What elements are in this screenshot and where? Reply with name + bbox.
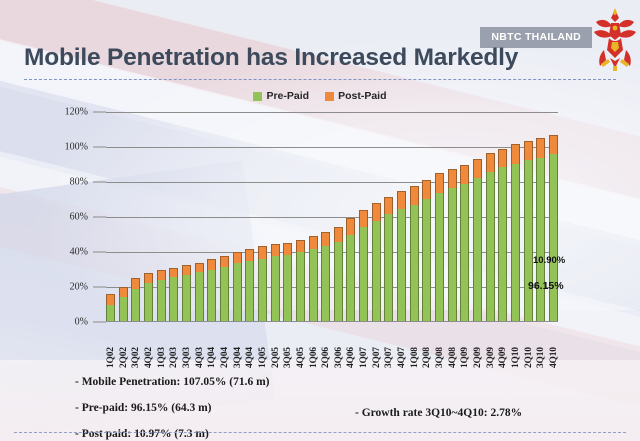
chart-bar[interactable] xyxy=(271,112,280,322)
y-tick-label: 60% xyxy=(70,212,88,223)
y-tick-label: 80% xyxy=(70,177,88,188)
mobile-penetration-chart: 0%20%40%60%80%100%120% 1Q022Q023Q024Q021… xyxy=(0,112,640,332)
bar-segment-post-paid xyxy=(157,270,166,281)
note-post-paid: - Post paid: 10.97% (7.3 m) xyxy=(75,428,209,440)
bar-segment-pre-paid xyxy=(334,242,343,323)
y-tick-label: 20% xyxy=(70,282,88,293)
chart-bar[interactable] xyxy=(384,112,393,322)
chart-bar[interactable] xyxy=(169,112,178,322)
x-tick-label: 1Q03 xyxy=(157,324,166,368)
chart-bar[interactable] xyxy=(220,112,229,322)
chart-bar[interactable] xyxy=(119,112,128,322)
bar-segment-post-paid xyxy=(169,268,178,278)
note-pre-paid: - Pre-paid: 96.15% (64.3 m) xyxy=(75,402,212,414)
bar-segment-pre-paid xyxy=(271,256,280,322)
bar-segment-pre-paid xyxy=(144,283,153,322)
bar-segment-pre-paid xyxy=(384,214,393,322)
bar-segment-pre-paid xyxy=(119,297,128,322)
bar-segment-post-paid xyxy=(346,218,355,235)
chart-bar[interactable] xyxy=(144,112,153,322)
title-divider xyxy=(24,79,616,80)
bar-segment-post-paid xyxy=(195,263,204,273)
legend-label-pre-paid: Pre-Paid xyxy=(266,90,309,102)
x-tick-label: 2Q07 xyxy=(372,324,381,368)
chart-bar[interactable] xyxy=(106,112,115,322)
chart-bar[interactable] xyxy=(258,112,267,322)
bar-segment-pre-paid xyxy=(321,246,330,322)
bar-segment-post-paid xyxy=(524,141,533,160)
bar-segment-post-paid xyxy=(486,153,495,171)
x-tick-label: 2Q09 xyxy=(473,324,482,368)
x-tick-label: 3Q06 xyxy=(334,324,343,368)
x-tick-label: 3Q03 xyxy=(182,324,191,368)
chart-bar[interactable] xyxy=(511,112,520,322)
bar-segment-post-paid xyxy=(359,210,368,227)
x-tick-label: 3Q05 xyxy=(283,324,292,368)
x-tick-label: 4Q05 xyxy=(296,324,305,368)
y-tick-label: 40% xyxy=(70,247,88,258)
x-tick-label: 4Q03 xyxy=(195,324,204,368)
x-tick-label: 3Q10 xyxy=(536,324,545,368)
chart-bar[interactable] xyxy=(346,112,355,322)
x-tick-label: 1Q05 xyxy=(258,324,267,368)
bar-segment-pre-paid xyxy=(346,235,355,323)
bar-segment-pre-paid xyxy=(283,255,292,322)
y-tick-mark xyxy=(93,217,106,218)
legend-item-pre-paid: Pre-Paid xyxy=(253,90,309,102)
bar-segment-pre-paid xyxy=(410,205,419,322)
bar-segment-pre-paid xyxy=(309,249,318,322)
bar-segment-post-paid xyxy=(309,236,318,249)
y-tick-mark xyxy=(93,287,106,288)
bar-segment-post-paid xyxy=(397,191,406,209)
chart-bar[interactable] xyxy=(157,112,166,322)
bar-segment-post-paid xyxy=(106,294,115,305)
page-title: Mobile Penetration has Increased Markedl… xyxy=(24,44,518,72)
x-tick-label: 4Q06 xyxy=(346,324,355,368)
bar-segment-pre-paid xyxy=(169,277,178,322)
bar-segment-pre-paid xyxy=(233,263,242,322)
chart-bar[interactable] xyxy=(486,112,495,322)
bar-segment-pre-paid xyxy=(296,252,305,322)
bar-segment-post-paid xyxy=(283,243,292,254)
y-tick-mark xyxy=(93,147,106,148)
bar-segment-pre-paid xyxy=(524,160,533,322)
footnotes: - Mobile Penetration: 107.05% (71.6 m) -… xyxy=(0,372,640,441)
legend-swatch-post-paid xyxy=(325,92,334,101)
x-tick-label: 2Q03 xyxy=(169,324,178,368)
bar-segment-pre-paid xyxy=(220,267,229,322)
bar-segment-pre-paid xyxy=(460,184,469,322)
chart-bar[interactable] xyxy=(422,112,431,322)
bar-segment-pre-paid xyxy=(372,221,381,323)
y-tick-label: 120% xyxy=(65,107,88,118)
chart-bar[interactable] xyxy=(460,112,469,322)
x-tick-label: 4Q02 xyxy=(144,324,153,368)
chart-bar[interactable] xyxy=(296,112,305,322)
x-tick-label: 1Q08 xyxy=(410,324,419,368)
chart-bar[interactable] xyxy=(473,112,482,322)
bar-segment-pre-paid xyxy=(195,272,204,322)
y-tick-label: 100% xyxy=(65,142,88,153)
x-tick-label: 2Q04 xyxy=(220,324,229,368)
annotation-post-paid-value: 10.90% xyxy=(533,255,565,266)
x-tick-label: 4Q08 xyxy=(448,324,457,368)
bar-segment-post-paid xyxy=(220,256,229,267)
bar-segment-post-paid xyxy=(296,240,305,252)
bar-segment-post-paid xyxy=(460,165,469,184)
bar-segment-pre-paid xyxy=(498,167,507,322)
chart-bar[interactable] xyxy=(131,112,140,322)
bar-segment-pre-paid xyxy=(448,188,457,322)
bar-segment-post-paid xyxy=(549,135,558,154)
x-tick-label: 1Q09 xyxy=(460,324,469,368)
annotation-pre-paid-value: 96.15% xyxy=(528,280,564,292)
x-tick-label: 3Q07 xyxy=(384,324,393,368)
x-tick-label: 3Q09 xyxy=(486,324,495,368)
bar-segment-post-paid xyxy=(119,287,128,297)
x-tick-label: 2Q08 xyxy=(422,324,431,368)
bar-segment-pre-paid xyxy=(359,227,368,322)
chart-x-axis-line xyxy=(106,321,558,322)
x-tick-label: 1Q02 xyxy=(106,324,115,368)
bar-segment-post-paid xyxy=(410,186,419,204)
bar-segment-post-paid xyxy=(473,159,482,177)
chart-bar[interactable] xyxy=(448,112,457,322)
slide-canvas: NBTC THAILAND Mobile Penetration has Inc… xyxy=(0,0,640,441)
chart-bar[interactable] xyxy=(207,112,216,322)
bar-segment-post-paid xyxy=(131,278,140,289)
chart-bar[interactable] xyxy=(321,112,330,322)
chart-y-axis: 0%20%40%60%80%100%120% xyxy=(0,112,106,322)
chart-bar[interactable] xyxy=(245,112,254,322)
chart-x-axis-labels: 1Q022Q023Q024Q021Q032Q033Q034Q031Q042Q04… xyxy=(106,324,558,368)
chart-legend: Pre-Paid Post-Paid xyxy=(0,90,640,102)
y-tick-mark xyxy=(93,112,106,113)
footer-divider xyxy=(14,432,626,433)
x-tick-label: 3Q08 xyxy=(435,324,444,368)
chart-bars xyxy=(106,112,558,322)
chart-bar[interactable] xyxy=(410,112,419,322)
chart-bar[interactable] xyxy=(283,112,292,322)
bar-segment-post-paid xyxy=(435,173,444,192)
chart-bar[interactable] xyxy=(359,112,368,322)
x-tick-label: 2Q06 xyxy=(321,324,330,368)
x-tick-label: 1Q10 xyxy=(511,324,520,368)
bar-segment-pre-paid xyxy=(182,275,191,322)
note-growth-rate: - Growth rate 3Q10~4Q10: 2.78% xyxy=(355,407,522,419)
x-tick-label: 4Q07 xyxy=(397,324,406,368)
bar-segment-pre-paid xyxy=(435,193,444,323)
bar-segment-pre-paid xyxy=(549,154,558,322)
bar-segment-post-paid xyxy=(271,244,280,256)
bar-segment-post-paid xyxy=(258,246,267,259)
bar-segment-pre-paid xyxy=(422,199,431,322)
x-tick-label: 3Q04 xyxy=(233,324,242,368)
garuda-emblem-icon xyxy=(592,6,638,72)
y-tick-mark xyxy=(93,182,106,183)
bar-segment-post-paid xyxy=(334,227,343,242)
x-tick-label: 2Q10 xyxy=(524,324,533,368)
bar-segment-post-paid xyxy=(144,273,153,283)
x-tick-label: 4Q09 xyxy=(498,324,507,368)
chart-bar[interactable] xyxy=(498,112,507,322)
chart-bar[interactable] xyxy=(334,112,343,322)
bar-segment-pre-paid xyxy=(258,259,267,322)
note-mobile-penetration: - Mobile Penetration: 107.05% (71.6 m) xyxy=(75,376,270,388)
bar-segment-pre-paid xyxy=(207,270,216,323)
bar-segment-post-paid xyxy=(321,232,330,246)
chart-bar[interactable] xyxy=(233,112,242,322)
bar-segment-post-paid xyxy=(372,203,381,221)
y-tick-mark xyxy=(93,252,106,253)
bar-segment-pre-paid xyxy=(131,289,140,322)
legend-label-post-paid: Post-Paid xyxy=(338,90,386,102)
bar-segment-post-paid xyxy=(448,169,457,188)
bar-segment-pre-paid xyxy=(486,172,495,323)
bar-segment-post-paid xyxy=(233,252,242,263)
chart-bar[interactable] xyxy=(182,112,191,322)
legend-item-post-paid: Post-Paid xyxy=(325,90,386,102)
chart-bar[interactable] xyxy=(435,112,444,322)
bar-segment-pre-paid xyxy=(157,280,166,322)
x-tick-label: 2Q02 xyxy=(119,324,128,368)
chart-bar[interactable] xyxy=(309,112,318,322)
x-tick-label: 1Q07 xyxy=(359,324,368,368)
chart-bar[interactable] xyxy=(372,112,381,322)
chart-plot-area xyxy=(106,112,558,322)
bar-segment-pre-paid xyxy=(473,178,482,322)
bar-segment-post-paid xyxy=(384,197,393,215)
bar-segment-post-paid xyxy=(536,138,545,157)
bar-segment-pre-paid xyxy=(245,261,254,322)
x-tick-label: 1Q04 xyxy=(207,324,216,368)
chart-bar[interactable] xyxy=(195,112,204,322)
bar-segment-post-paid xyxy=(245,249,254,261)
y-tick-mark xyxy=(93,322,106,323)
bar-segment-pre-paid xyxy=(397,209,406,322)
bar-segment-post-paid xyxy=(422,180,431,198)
bar-segment-post-paid xyxy=(511,144,520,163)
y-tick-label: 0% xyxy=(75,317,88,328)
legend-swatch-pre-paid xyxy=(253,92,262,101)
bar-segment-post-paid xyxy=(207,259,216,270)
bar-segment-pre-paid xyxy=(106,305,115,322)
x-tick-label: 4Q10 xyxy=(549,324,558,368)
x-tick-label: 1Q06 xyxy=(309,324,318,368)
bar-segment-pre-paid xyxy=(511,164,520,322)
bar-segment-post-paid xyxy=(498,149,507,167)
bar-segment-pre-paid xyxy=(536,158,545,323)
x-tick-label: 3Q02 xyxy=(131,324,140,368)
x-tick-label: 4Q04 xyxy=(245,324,254,368)
x-tick-label: 2Q05 xyxy=(271,324,280,368)
bar-segment-post-paid xyxy=(182,265,191,275)
chart-bar[interactable] xyxy=(397,112,406,322)
